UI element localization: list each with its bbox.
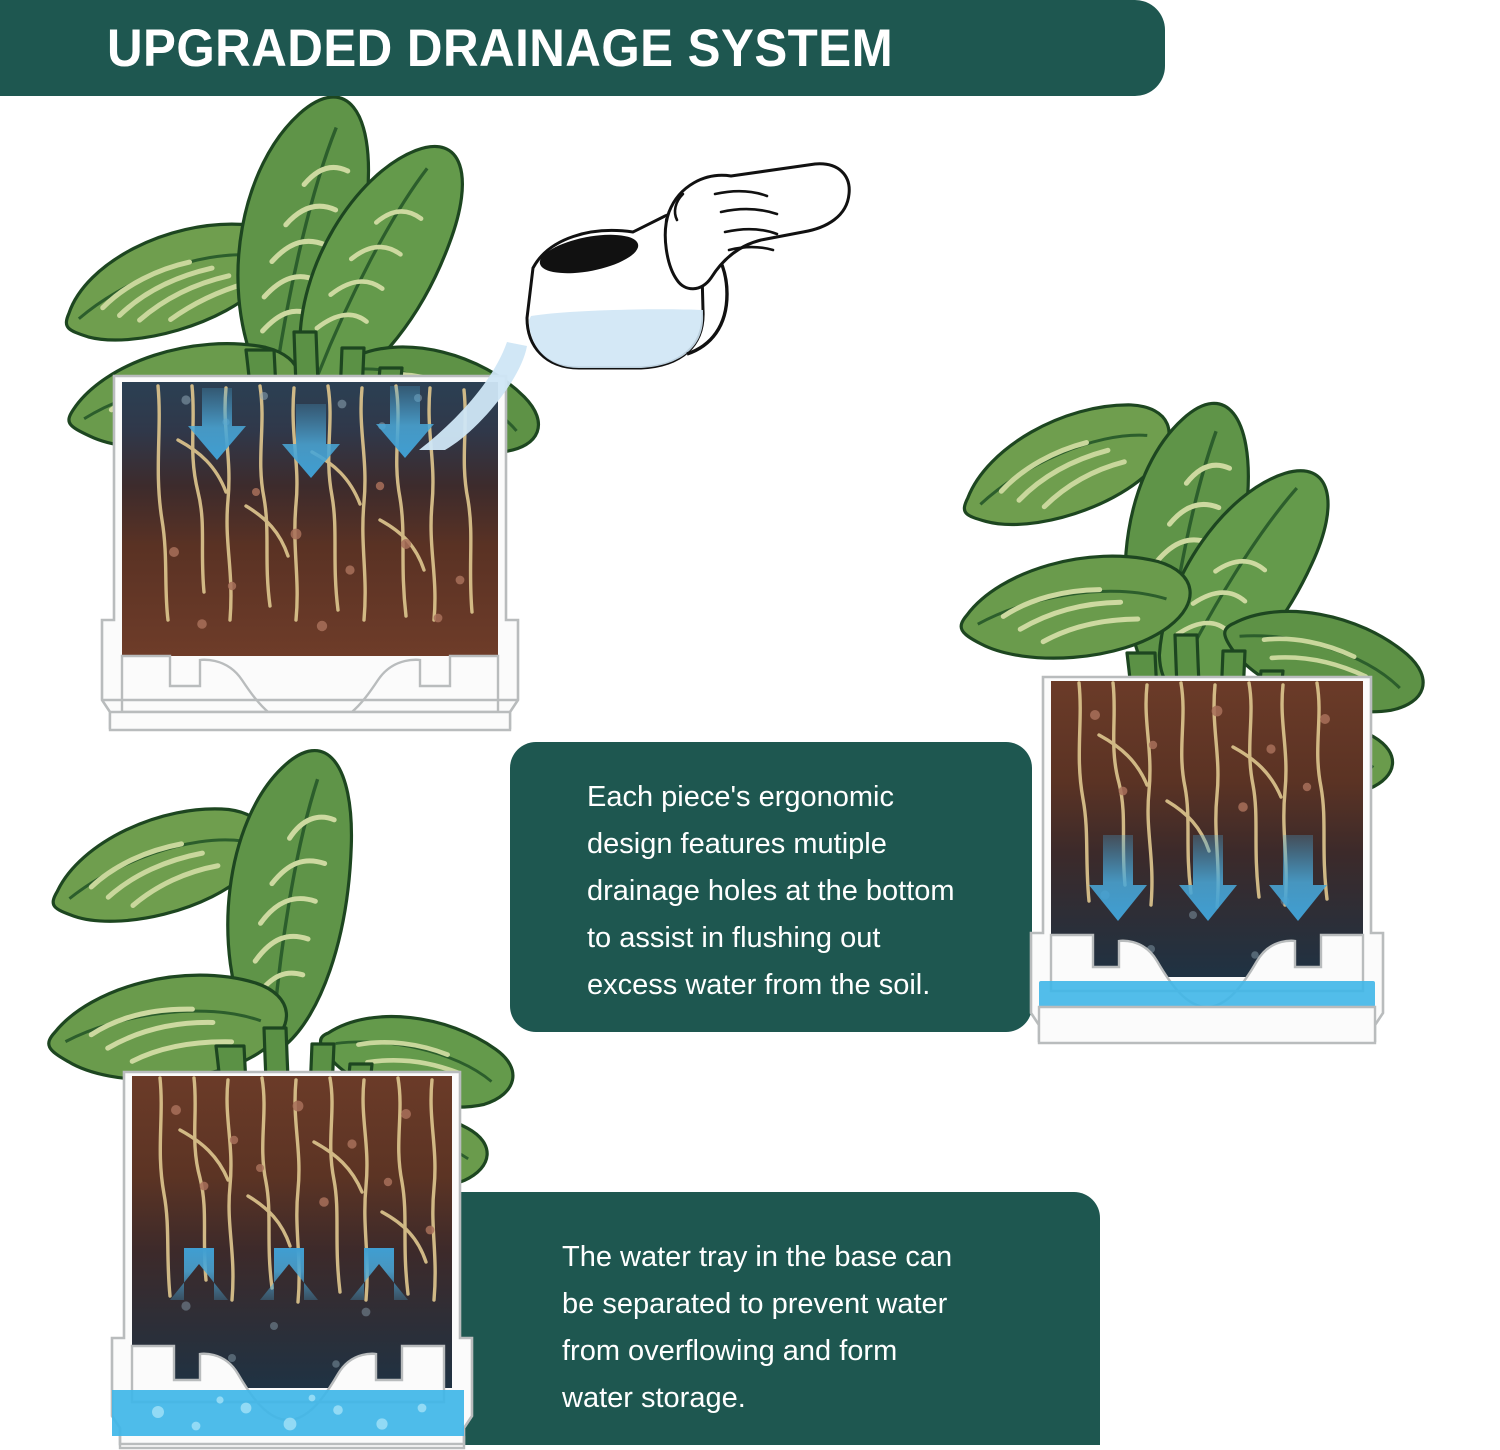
planter-foot: [1039, 1007, 1375, 1043]
hand: [665, 164, 849, 289]
tray-water-storage: [112, 1390, 464, 1436]
callout-drainage-holes: Each piece's ergonomic design features m…: [510, 742, 1032, 1032]
illustration-watering-can: [515, 150, 845, 420]
illustration-watering-planter: [50, 100, 570, 740]
can-water-fill: [529, 309, 703, 368]
water-flow-arrows-down: [1089, 835, 1327, 921]
callout-water-tray: The water tray in the base can be separa…: [420, 1192, 1100, 1445]
illustration-water-storage-planter: [50, 760, 520, 1450]
infographic-canvas: UPGRADED DRAINAGE SYSTEM: [0, 0, 1500, 1445]
soil-cross-section: [1051, 681, 1363, 977]
illustration-draining-planter: [955, 415, 1455, 1055]
callout-2-text: The water tray in the base can be separa…: [420, 1192, 1100, 1422]
page-title: UPGRADED DRAINAGE SYSTEM: [0, 18, 893, 79]
planter-foot: [110, 712, 510, 730]
tray-water: [1039, 981, 1375, 1007]
header-banner: UPGRADED DRAINAGE SYSTEM: [0, 0, 1165, 96]
callout-1-text: Each piece's ergonomic design features m…: [510, 742, 1032, 1009]
soil-cross-section: [132, 1076, 452, 1388]
